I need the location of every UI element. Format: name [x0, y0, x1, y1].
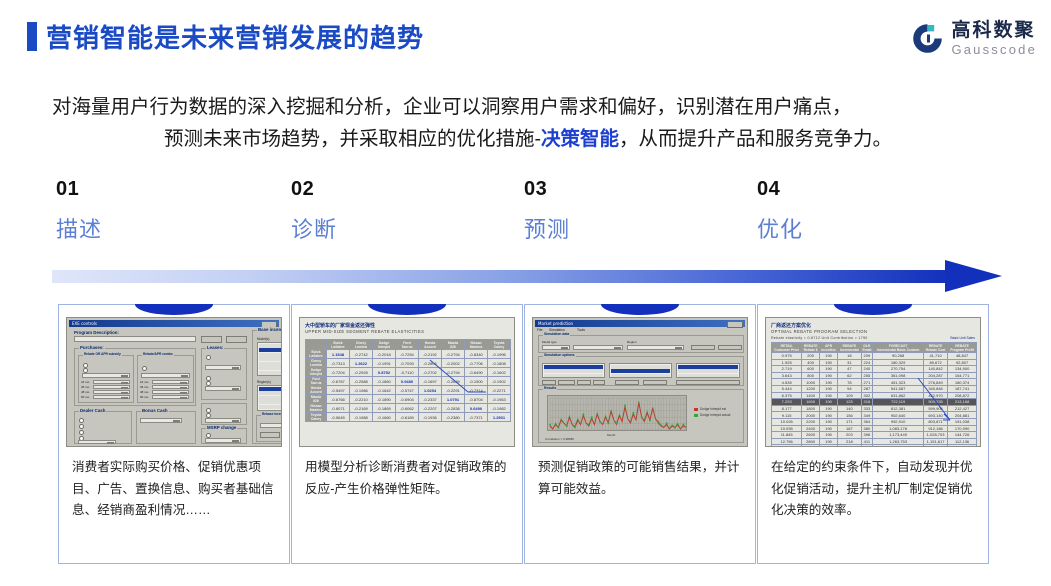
card-3-caption: 预测促销政策的可能销售结果，并计算可能效益。 [538, 457, 744, 500]
matrix-title-cn: 大中型轿车的厂家现金返还弹性 [305, 322, 375, 329]
card-2-caption: 用模型分析诊断消费者对促销政策的反应-产生价格弹性矩阵。 [305, 457, 511, 500]
card-predict[interactable]: Market prediction File Simulation Tools … [524, 304, 756, 564]
simulation-title-bar: Market prediction [535, 320, 745, 327]
clear-all-button-sim[interactable] [643, 380, 667, 385]
purchases-label: Purchases: [79, 345, 105, 350]
legend-label-est: Dodge Intrepid est [700, 407, 726, 411]
simulation-title-text: Market prediction [538, 321, 573, 326]
radio-not-offered[interactable] [142, 366, 147, 371]
simulation-window-controls-icon [727, 321, 743, 328]
logo-name-en: Gausscode [951, 43, 1037, 56]
chart-x-axis-label: Month [607, 433, 615, 437]
program-description-input[interactable] [74, 336, 196, 342]
sim-model-item-selected[interactable] [611, 369, 670, 373]
dealer-cash-label: Dealer Cash [79, 408, 106, 413]
model-list-item[interactable] [259, 371, 282, 375]
models-label: Model(s) [257, 337, 269, 341]
radio-cash-only[interactable] [79, 418, 84, 423]
combo-row-60mo-label: 60 mo. [140, 395, 149, 399]
row-36mo-label: 36 mo. [81, 385, 90, 389]
row-48mo-label: 48 mo. [81, 390, 90, 394]
optimization-table: RETAILCustomer PriceREBATERebate $APRInc… [771, 342, 977, 447]
step-4: 04 优化 [757, 178, 977, 244]
optimization-title-cn: 厂商返还方案优化 [771, 322, 811, 329]
optimization-table-shot: 厂商返还方案优化 OPTIMAL REBATE PROGRAM SELECTIO… [766, 318, 980, 446]
prediction-chart [547, 395, 687, 431]
lead-line-2: 预测未来市场趋势，并采取相应的优化措施-决策智能，从而提升产品和服务竞争力。 [52, 124, 1004, 156]
combo-row-36mo-label: 36 mo. [140, 385, 149, 389]
dialog-title-bar: EXE controls [69, 320, 279, 327]
bonus-cash-combo[interactable] [140, 418, 182, 423]
stop-button[interactable] [718, 345, 742, 350]
rebate-value-combo[interactable] [82, 373, 130, 378]
radio-all-cash-inc-lease[interactable] [79, 430, 84, 435]
combo-row-48mo-label: 48 mo. [140, 390, 149, 394]
card-1-tab [135, 304, 213, 315]
combo-60mo[interactable] [152, 395, 189, 399]
rebase-model-combo[interactable] [260, 423, 282, 428]
base-incentives-label: Base incentives [257, 327, 282, 332]
regions-listbox[interactable] [257, 385, 282, 411]
rebate-36mo-combo[interactable] [93, 385, 130, 389]
step-header-row: 01 描述 02 诊断 03 预测 04 优化 [0, 178, 1051, 248]
model-type-label: Model type [542, 340, 557, 344]
legend-label-actual: Dodge Intrepid actual [700, 413, 730, 417]
rebate-60mo-combo[interactable] [93, 395, 130, 399]
step-4-label: 优化 [757, 212, 977, 244]
rebate-apr-subsidy-label: Rebate OR APR subsidy [83, 352, 122, 356]
step-1-number: 01 [56, 178, 276, 201]
start-date-button[interactable] [691, 345, 715, 350]
region-list-item[interactable] [259, 405, 282, 409]
simulation-data-label: Simulation data [543, 332, 570, 336]
model-type-select[interactable] [542, 345, 570, 350]
rebate-24mo-combo[interactable] [93, 380, 130, 384]
combo-value[interactable] [141, 373, 190, 378]
edit-button[interactable] [577, 380, 591, 385]
card-diagnose[interactable]: 大中型轿车的厂家现金返还弹性 UPPER MID-SIZE SEGMENT RE… [291, 304, 523, 564]
rebate-apr-combo-label: Rebate/APR combo [142, 352, 174, 356]
gausscode-logo-icon [911, 22, 944, 55]
legend-swatch-est [694, 408, 698, 411]
step-1: 01 描述 [56, 178, 276, 244]
select-all-button-sim[interactable] [615, 380, 639, 385]
region-label: Region [627, 340, 637, 344]
matrix-title-en: UPPER MID-SIZE SEGMENT REBATE ELASTICITI… [305, 329, 424, 334]
menu-file[interactable]: File [537, 328, 542, 332]
step-2-label: 诊断 [291, 212, 511, 244]
row-24mo-label: 24 mo. [81, 380, 90, 384]
elasticity-matrix: 大中型轿车的厂家现金返还弹性 UPPER MID-SIZE SEGMENT RE… [300, 318, 514, 446]
lead-line-2-after: ，从而提升产品和服务竞争力。 [619, 128, 892, 150]
logo-name-cn: 高科数聚 [951, 21, 1037, 40]
brand-logo: 高科数聚 Gausscode [911, 17, 1037, 59]
slide-header: 营销智能是未来营销发展的趋势 高科数聚 Gausscode [0, 0, 1051, 72]
arrow-body [52, 270, 950, 283]
card-describe[interactable]: EXE controls Program Description: Purcha… [58, 304, 290, 564]
dealer-cash-combo[interactable] [78, 440, 116, 444]
sim-model-item[interactable] [611, 374, 670, 378]
card-2-tab [368, 304, 446, 315]
results-fieldset: Results Dodge Intrepid est Dodge Intrepi… [538, 389, 744, 443]
menu-tools[interactable]: Tools [577, 328, 585, 332]
rebate-apr-subsidy-group: Rebate OR APR subsidy 24 mo. 36 mo. 48 m… [78, 355, 134, 403]
matrix-table: BuickLaSabreChevyLuminaDodgeIntrepidFord… [305, 339, 511, 422]
card-4-screenshot: 厂商返还方案优化 OPTIMAL REBATE PROGRAM SELECTIO… [765, 317, 981, 447]
region-list-item[interactable] [259, 400, 282, 404]
close-button[interactable] [226, 336, 247, 343]
run-button[interactable] [593, 380, 605, 385]
model-list-item[interactable] [259, 344, 282, 348]
card-1-caption: 消费者实际购买价格、促销优惠项目、广告、置换信息、购买者基础信息、经销商盈利情况… [72, 457, 278, 522]
slide: 营销智能是未来营销发展的趋势 高科数聚 Gausscode 对海量用户行为数据的… [0, 0, 1051, 586]
purchases-fieldset: Purchases: Rebate OR APR subsidy 24 mo. [74, 348, 196, 406]
models-listbox[interactable] [257, 342, 282, 376]
scenario-item[interactable] [544, 369, 603, 373]
remove-button[interactable] [558, 380, 575, 385]
logo-wordmark: 高科数聚 Gausscode [951, 21, 1037, 56]
region-list-item[interactable] [259, 396, 282, 400]
output-option[interactable] [678, 369, 738, 373]
card-optimize[interactable]: 厂商返还方案优化 OPTIMAL REBATE PROGRAM SELECTIO… [757, 304, 989, 564]
graph-button[interactable] [676, 380, 740, 385]
card-row: EXE controls Program Description: Purcha… [0, 300, 1051, 570]
radio-no-subsidy[interactable] [206, 355, 211, 360]
title-accent-bar [27, 22, 37, 51]
step-3-label: 预测 [524, 212, 744, 244]
rebase-clear-button[interactable] [260, 432, 280, 438]
step-2-number: 02 [291, 178, 511, 201]
residual-subsidy-fieldset [201, 403, 247, 425]
scenario-item-selected[interactable] [544, 365, 603, 369]
save-button[interactable] [201, 336, 222, 343]
scenario-item[interactable] [544, 374, 603, 378]
step-3: 03 预测 [524, 178, 744, 244]
row-60mo-label: 60 mo. [81, 395, 90, 399]
sim-model-item[interactable] [611, 365, 670, 369]
radio-rebate-cash-inc[interactable] [79, 424, 84, 429]
combo-36mo[interactable] [152, 385, 189, 389]
legend-swatch-actual [694, 414, 698, 417]
segment-select[interactable] [573, 345, 623, 350]
add-button[interactable] [542, 380, 556, 385]
program-description-label: Program Description: [74, 330, 119, 335]
leases-fieldset: Leases: [201, 348, 247, 400]
leases-label: Leases: [206, 345, 224, 350]
output-option-selected[interactable] [678, 365, 738, 369]
dialog-title-text: EXE controls [72, 321, 97, 326]
model-list-item-selected[interactable] [259, 348, 282, 352]
dealer-cash-fieldset: Dealer Cash [74, 411, 132, 444]
model-list-item[interactable] [259, 353, 282, 357]
combo-48mo[interactable] [152, 390, 189, 394]
model-list-item[interactable] [259, 362, 282, 366]
model-list-item[interactable] [259, 357, 282, 361]
lead-line-1: 对海量用户行为数据的深入挖掘和分析，企业可以洞察用户需求和偏好，识别潜在用户痛点… [52, 92, 1004, 124]
lead-emphasis: 决策智能 [541, 128, 619, 150]
model-list-item[interactable] [259, 366, 282, 370]
bonus-cash-fieldset: Bonus Cash [136, 411, 196, 444]
step-4-number: 04 [757, 178, 977, 201]
simulation-options-fieldset: Simulation options [538, 356, 744, 386]
region-list-item[interactable] [259, 391, 282, 395]
rebate-48mo-combo[interactable] [93, 390, 130, 394]
optimization-subline: Rebate elasticity = 0.8712 Unit Contribu… [771, 336, 868, 340]
card-3-screenshot: Market prediction File Simulation Tools … [532, 317, 748, 447]
combo-24mo[interactable] [152, 380, 189, 384]
rate-subsidy-combo[interactable] [205, 386, 241, 391]
arrow-head-icon [945, 260, 1002, 292]
lead-line-2-before: 预测未来市场趋势，并采取相应的优化措施- [164, 128, 541, 150]
output-options-listbox[interactable] [676, 363, 740, 378]
regions-label: Region(s) [257, 380, 271, 384]
simulation-data-fieldset: Simulation data Model type Region [538, 335, 744, 353]
optimization-right-note: Basic Unit Sales [950, 336, 975, 340]
card-1-screenshot: EXE controls Program Description: Purcha… [66, 317, 282, 447]
card-3-tab [601, 304, 679, 315]
card-4-tab [834, 304, 912, 315]
optimization-title-en: OPTIMAL REBATE PROGRAM SELECTION [771, 329, 867, 334]
results-label: Results [543, 386, 557, 390]
card-4-caption: 在给定的约束条件下，自动发现并优化促销活动，提升主机厂制定促销优化决策的效率。 [771, 457, 977, 522]
msrp-change-label: MSRP change [206, 425, 237, 430]
rebase-incentives-label: Rebase incentives [261, 412, 282, 416]
combo-row-24mo-label: 24 mo. [140, 380, 149, 384]
models-listbox-sim[interactable] [609, 363, 672, 378]
step-2: 02 诊断 [291, 178, 511, 244]
windows-form-dialog: EXE controls Program Description: Purcha… [67, 318, 281, 446]
rebase-incentives-fieldset: Rebase incentives [256, 415, 282, 442]
bonus-cash-label: Bonus Cash [141, 408, 169, 413]
page-title: 营销智能是未来营销发展的趋势 [46, 18, 424, 55]
step-1-label: 描述 [56, 212, 276, 244]
lead-paragraph: 对海量用户行为数据的深入挖掘和分析，企业可以洞察用户需求和偏好，识别潜在用户痛点… [52, 92, 1004, 155]
card-2-screenshot: 大中型轿车的厂家现金返还弹性 UPPER MID-SIZE SEGMENT RE… [299, 317, 515, 447]
lease-cash-combo[interactable] [205, 365, 241, 370]
region-select[interactable] [627, 345, 684, 350]
msrp-change-combo[interactable] [205, 438, 241, 443]
rebate-apr-combo-group: Rebate/APR combo 24 mo. 36 mo. 48 mo. 60… [137, 355, 194, 403]
msrp-change-fieldset: MSRP change [201, 428, 247, 444]
step-3-number: 03 [524, 178, 744, 201]
region-list-item-selected[interactable] [259, 387, 282, 391]
residual-value-combo[interactable] [205, 418, 241, 423]
simulation-options-label: Simulation options [543, 353, 576, 357]
progression-arrow [52, 264, 1002, 288]
scenarios-listbox[interactable] [542, 363, 605, 378]
simulation-window: Market prediction File Simulation Tools … [533, 318, 747, 446]
base-incentives-fieldset: Base incentives Model(s) [252, 330, 282, 444]
chart-footnote: Correlation = 0.98986 [545, 437, 574, 441]
output-option[interactable] [678, 374, 738, 378]
